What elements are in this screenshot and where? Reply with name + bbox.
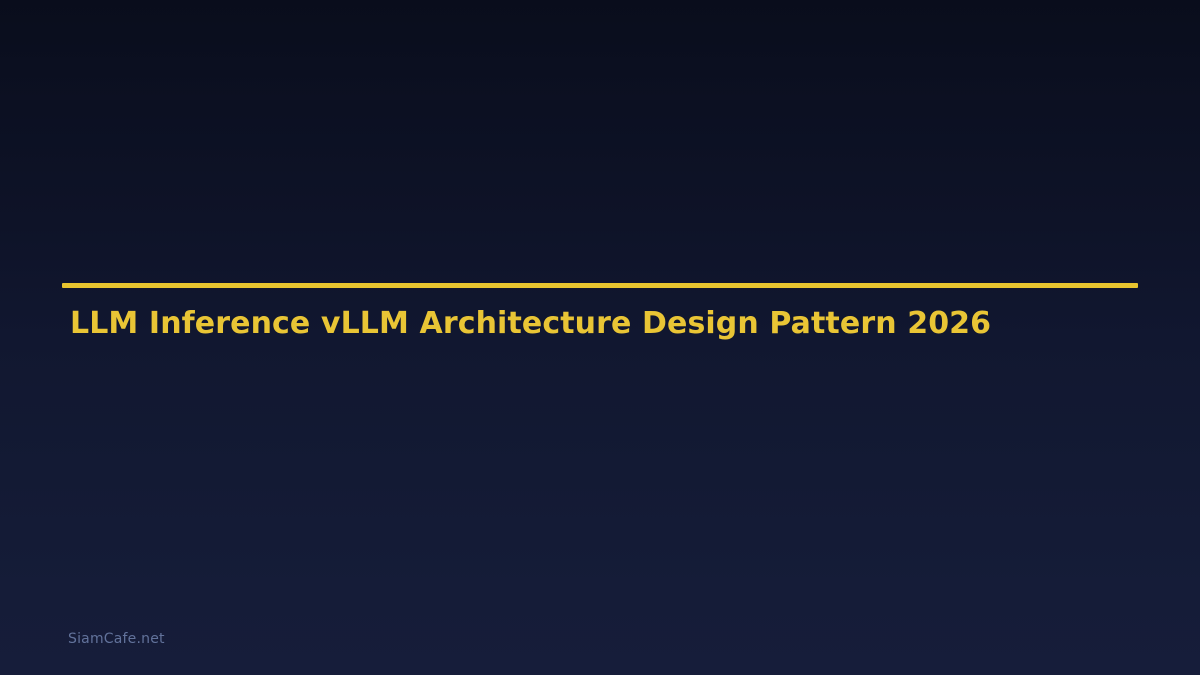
title-accent-rule <box>62 283 1138 288</box>
footer-brand: SiamCafe.net <box>68 630 165 648</box>
title-block: LLM Inference vLLM Architecture Design P… <box>62 283 1138 288</box>
page-title: LLM Inference vLLM Architecture Design P… <box>70 306 991 341</box>
title-slide: LLM Inference vLLM Architecture Design P… <box>0 0 1200 675</box>
